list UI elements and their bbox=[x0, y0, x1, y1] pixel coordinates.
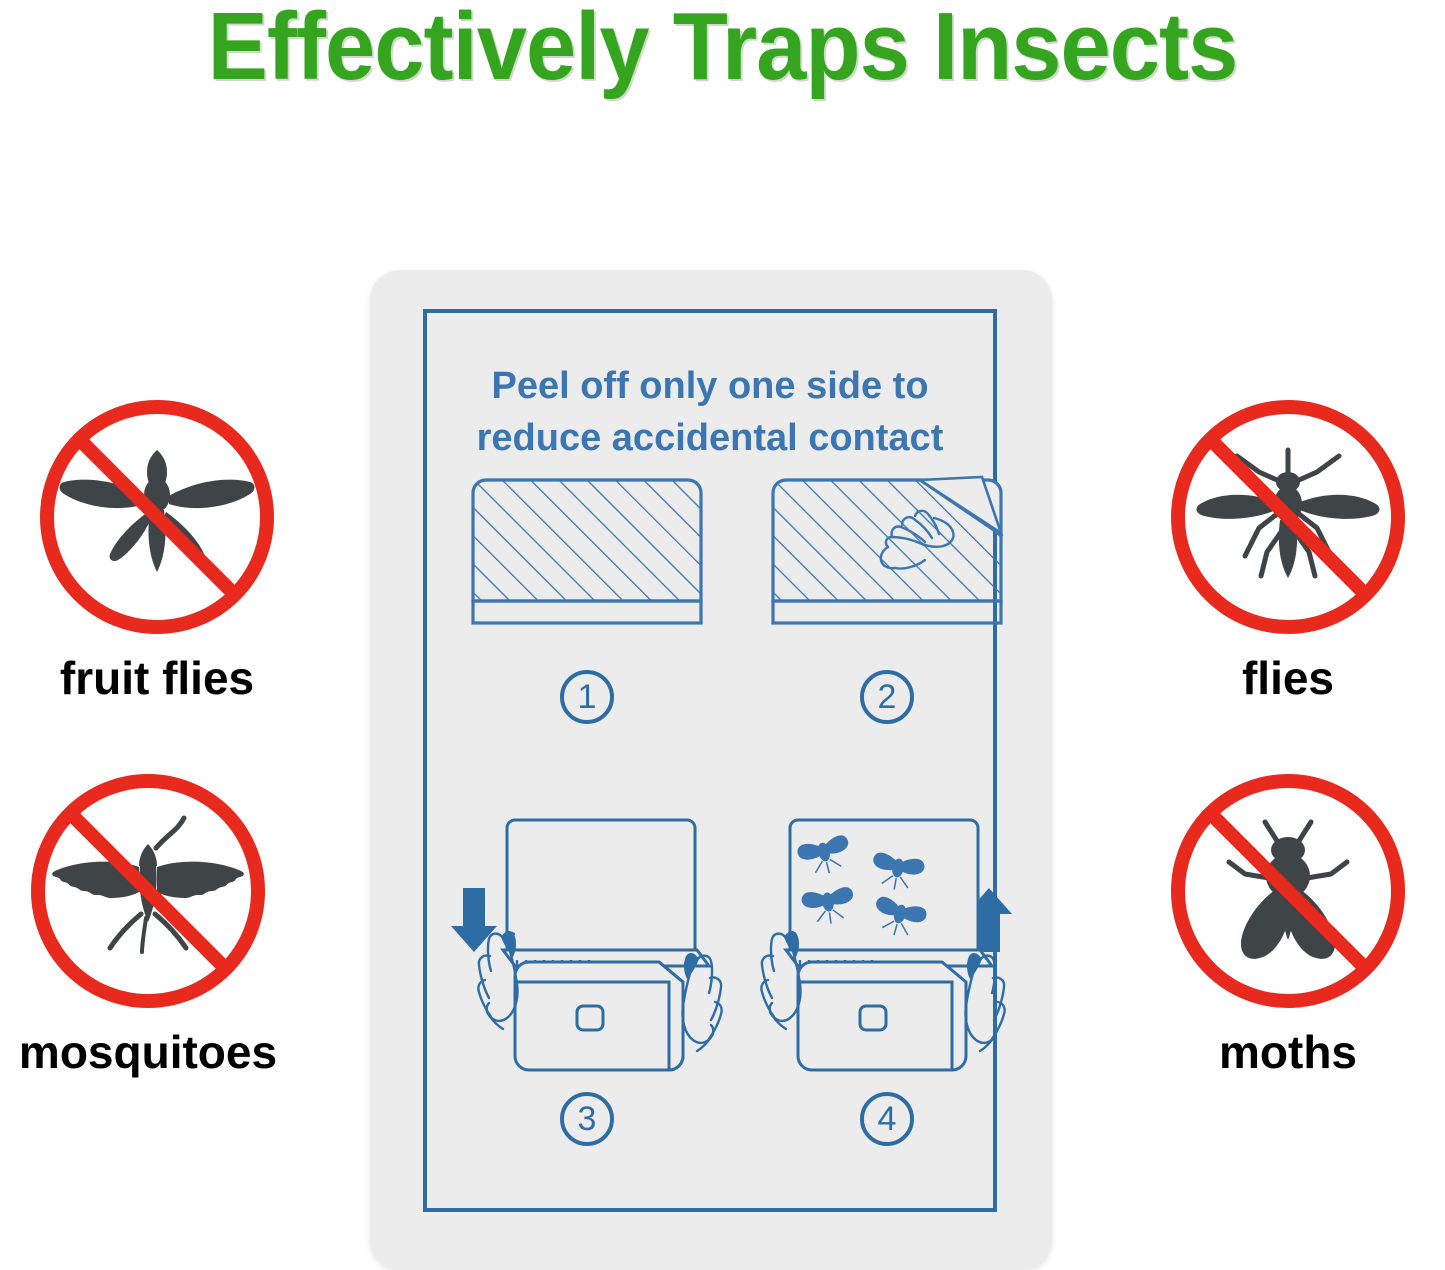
down-arrow-icon bbox=[451, 888, 497, 952]
badge-flies: flies bbox=[1148, 392, 1428, 704]
no-fly-icon bbox=[1163, 392, 1413, 642]
step-figure-3 bbox=[445, 810, 735, 1080]
step-number-1: 1 bbox=[560, 670, 614, 724]
badge-mosquitoes: mosquitoes bbox=[8, 766, 288, 1078]
badge-label-fruit-flies: fruit flies bbox=[17, 652, 297, 704]
badge-label-flies: flies bbox=[1148, 652, 1428, 704]
step-figure-4 bbox=[750, 810, 1040, 1080]
no-mosquito-icon bbox=[23, 766, 273, 1016]
step-figure-2 bbox=[768, 475, 1006, 640]
instruction-card: Peel off only one side to reduce acciden… bbox=[370, 270, 1052, 1270]
card-title-line-2: reduce accidental contact bbox=[423, 412, 997, 464]
page-title: Effectively Traps Insects bbox=[43, 0, 1401, 102]
badge-label-mosquitoes: mosquitoes bbox=[8, 1026, 288, 1078]
card-title: Peel off only one side to reduce acciden… bbox=[423, 360, 997, 464]
no-moth-icon bbox=[1163, 766, 1413, 1016]
badge-moths: moths bbox=[1148, 766, 1428, 1078]
card-title-line-1: Peel off only one side to bbox=[423, 360, 997, 412]
badge-label-moths: moths bbox=[1148, 1026, 1428, 1078]
step-figure-1 bbox=[468, 475, 706, 640]
step-number-3: 3 bbox=[560, 1092, 614, 1146]
step-number-4: 4 bbox=[860, 1092, 914, 1146]
badge-fruit-flies: fruit flies bbox=[17, 392, 297, 704]
step-number-2: 2 bbox=[860, 670, 914, 724]
no-fruit-fly-icon bbox=[32, 392, 282, 642]
